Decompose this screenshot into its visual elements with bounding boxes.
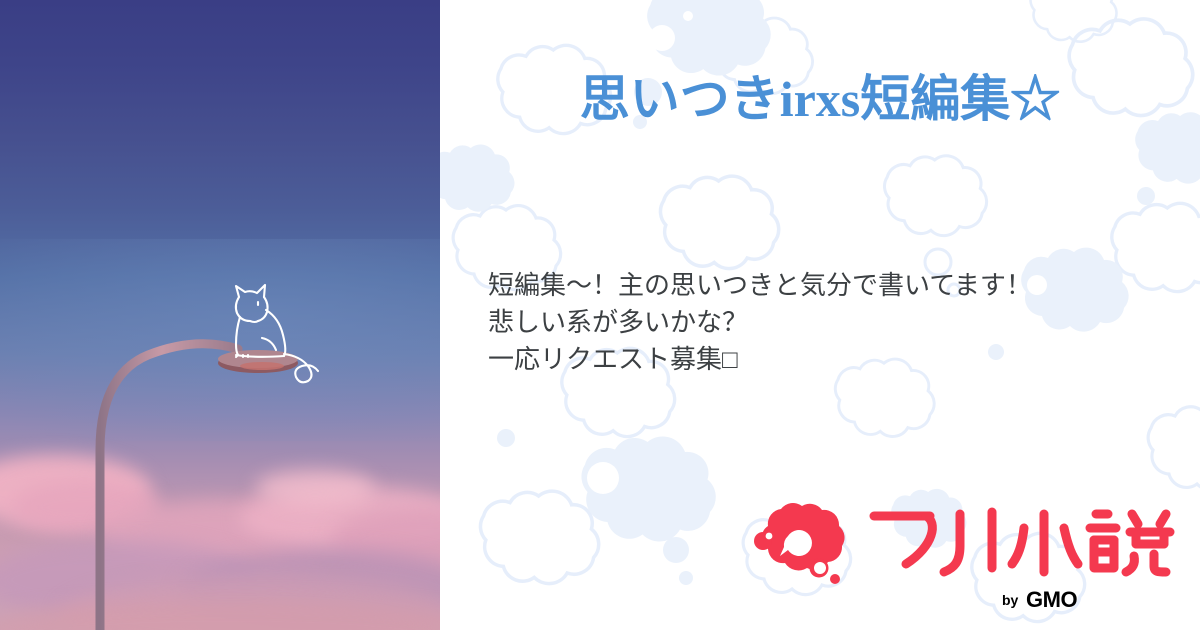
- thought-bubble-icon: [754, 500, 850, 584]
- info-panel: 思いつきirxs短編集☆ 短編集〜！主の思いつきと気分で書いてます！ 悲しい系が…: [440, 0, 1200, 630]
- page-title: 思いつきirxs短編集☆: [440, 72, 1200, 126]
- brand-wordmark: [864, 502, 1176, 582]
- cover-photo: [0, 0, 440, 630]
- street-lamp-with-cat: [0, 0, 440, 630]
- novel-cover-card: 思いつきirxs短編集☆ 短編集〜！主の思いつきと気分で書いてます！ 悲しい系が…: [0, 0, 1200, 630]
- brand-logo: by GMO: [756, 500, 1176, 610]
- lamp-glow: [240, 362, 284, 370]
- lamp-pole: [100, 344, 238, 630]
- description-text: 短編集〜！主の思いつきと気分で書いてます！ 悲しい系が多いかな？ 一応リクエスト…: [488, 268, 1108, 379]
- gmo-label: GMO: [1026, 587, 1077, 610]
- by-gmo-lockup: by GMO: [1002, 586, 1130, 610]
- by-label: by: [1002, 592, 1019, 608]
